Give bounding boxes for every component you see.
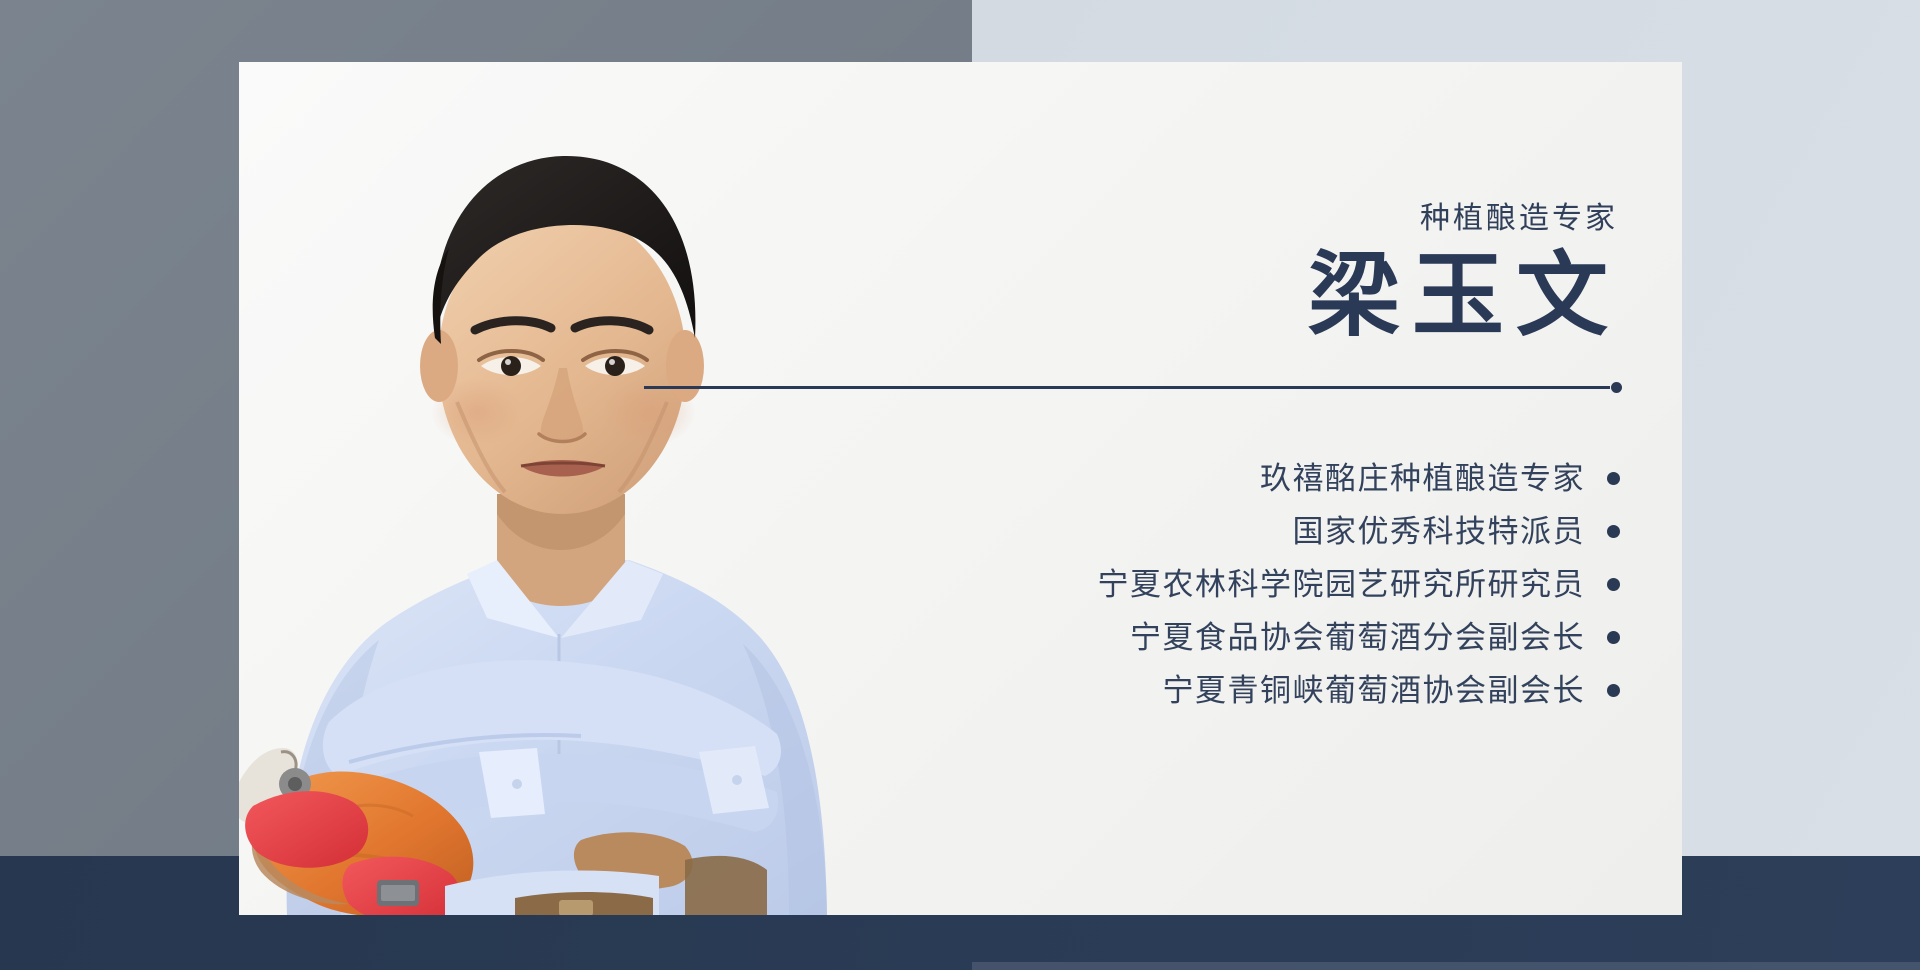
bullet-icon [1607,578,1620,591]
credential-label: 国家优秀科技特派员 [1293,516,1586,547]
list-item: 宁夏青铜峡葡萄酒协会副会长 [820,664,1620,717]
credential-label: 宁夏食品协会葡萄酒分会副会长 [1130,622,1585,653]
portrait-photo [239,62,869,915]
credential-label: 玖禧酩庄种植酿造专家 [1260,463,1585,494]
list-item: 宁夏农林科学院园艺研究所研究员 [820,558,1620,611]
divider [644,382,1622,394]
list-item: 国家优秀科技特派员 [820,505,1620,558]
profile-subtitle: 种植酿造专家 [1420,204,1618,234]
credential-list: 玖禧酩庄种植酿造专家 国家优秀科技特派员 宁夏农林科学院园艺研究所研究员 宁夏食… [820,452,1620,717]
list-item: 玖禧酩庄种植酿造专家 [820,452,1620,505]
credential-label: 宁夏农林科学院园艺研究所研究员 [1098,569,1586,600]
bullet-icon [1607,472,1620,485]
poster-stage: 种植酿造专家 梁玉文 玖禧酩庄种植酿造专家 国家优秀科技特派员 宁夏农林科学院园… [0,0,1920,970]
bullet-icon [1607,631,1620,644]
divider-line [644,386,1610,389]
credential-label: 宁夏青铜峡葡萄酒协会副会长 [1163,675,1586,706]
profile-name: 梁玉文 [1296,248,1620,345]
divider-end-dot [1611,382,1622,393]
bullet-icon [1607,684,1620,697]
profile-card: 种植酿造专家 梁玉文 玖禧酩庄种植酿造专家 国家优秀科技特派员 宁夏农林科学院园… [239,62,1682,915]
list-item: 宁夏食品协会葡萄酒分会副会长 [820,611,1620,664]
bullet-icon [1607,525,1620,538]
background-bottom-accent-strip [972,962,1920,970]
